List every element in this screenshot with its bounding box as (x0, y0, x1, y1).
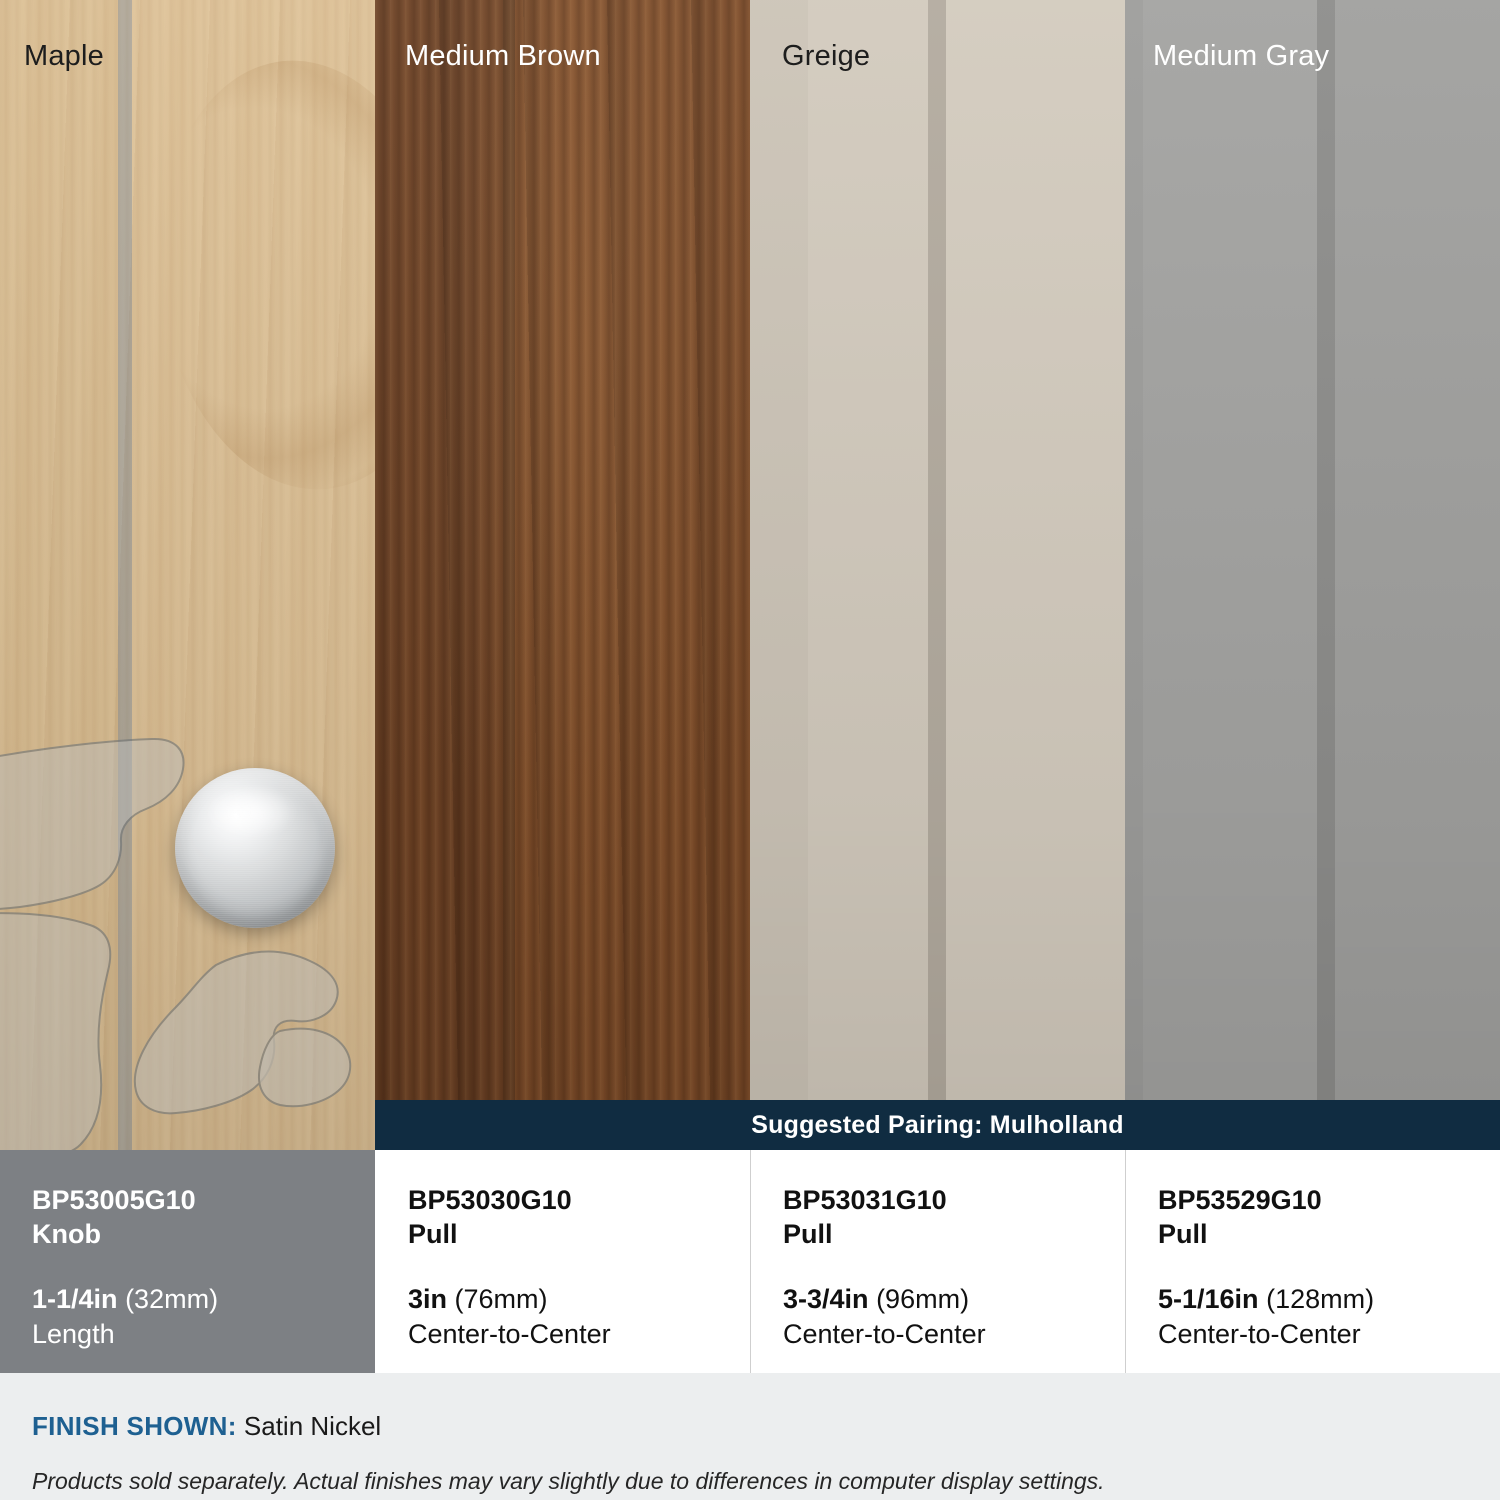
dimension-inches: 3in (408, 1284, 447, 1314)
product-info-row: BP53005G10 Knob 1-1/4in (32mm) Length BP… (0, 1150, 1500, 1373)
product-dimension: 3-3/4in (96mm) Center-to-Center (783, 1282, 1093, 1352)
dimension-mm: (32mm) (125, 1284, 218, 1314)
product-sku: BP53030G10 (408, 1184, 718, 1218)
product-card-pull-3-3-4in: BP53031G10 Pull 3-3/4in (96mm) Center-to… (750, 1150, 1125, 1373)
dimension-measure: Center-to-Center (408, 1317, 718, 1352)
dimension-inches: 3-3/4in (783, 1284, 869, 1314)
product-card-pull-5-1-16in: BP53529G10 Pull 5-1/16in (128mm) Center-… (1125, 1150, 1500, 1373)
finish-shown-label: FINISH SHOWN: (32, 1411, 237, 1441)
disclaimer-text: Products sold separately. Actual finishe… (32, 1468, 1468, 1495)
panel-shading (1125, 0, 1500, 1150)
panel-medium-gray: Medium Gray (1125, 0, 1500, 1150)
dimension-mm: (96mm) (876, 1284, 969, 1314)
product-card-pull-3in: BP53030G10 Pull 3in (76mm) Center-to-Cen… (375, 1150, 750, 1373)
footer-notes: FINISH SHOWN: Satin Nickel Products sold… (0, 1373, 1500, 1500)
panel-label-medium-gray: Medium Gray (1153, 40, 1329, 73)
wood-grain-texture (375, 0, 750, 1150)
dimension-inches: 1-1/4in (32, 1284, 118, 1314)
suggested-pairing-text: Suggested Pairing: Mulholland (751, 1111, 1123, 1140)
panel-label-greige: Greige (782, 40, 870, 73)
product-type: Pull (783, 1218, 1093, 1252)
panel-greige: Greige (750, 0, 1125, 1150)
product-dimension: 5-1/16in (128mm) Center-to-Center (1158, 1282, 1468, 1352)
product-card-knob: BP53005G10 Knob 1-1/4in (32mm) Length (0, 1150, 375, 1373)
hero-swatch-band: Maple Medium Brown (0, 0, 1500, 1150)
product-dimension: 3in (76mm) Center-to-Center (408, 1282, 718, 1352)
product-type: Pull (408, 1218, 718, 1252)
product-comparison-image: Maple Medium Brown (0, 0, 1500, 1500)
suggested-pairing-banner: Suggested Pairing: Mulholland (375, 1100, 1500, 1150)
product-sku: BP53529G10 (1158, 1184, 1468, 1218)
panel-medium-brown: Medium Brown (375, 0, 750, 1150)
dimension-inches: 5-1/16in (1158, 1284, 1259, 1314)
dimension-mm: (76mm) (455, 1284, 548, 1314)
product-type: Knob (32, 1218, 343, 1252)
panel-shading (375, 0, 750, 1150)
cabinet-knob (175, 768, 335, 928)
dimension-measure: Center-to-Center (1158, 1317, 1468, 1352)
dimension-measure: Center-to-Center (783, 1317, 1093, 1352)
product-sku: BP53005G10 (32, 1184, 343, 1218)
dimension-mm: (128mm) (1266, 1284, 1374, 1314)
panel-maple: Maple (0, 0, 375, 1150)
product-dimension: 1-1/4in (32mm) Length (32, 1282, 343, 1352)
hand-silhouette-icon (0, 735, 375, 1150)
finish-shown-value: Satin Nickel (244, 1411, 381, 1441)
panel-label-medium-brown: Medium Brown (405, 40, 601, 73)
wood-knot-figure (138, 46, 375, 504)
product-type: Pull (1158, 1218, 1468, 1252)
panel-label-maple: Maple (24, 40, 104, 73)
panel-shading (750, 0, 1125, 1150)
product-sku: BP53031G10 (783, 1184, 1093, 1218)
finish-shown-line: FINISH SHOWN: Satin Nickel (32, 1411, 1468, 1442)
knob-highlight (204, 787, 297, 838)
dimension-measure: Length (32, 1317, 343, 1352)
